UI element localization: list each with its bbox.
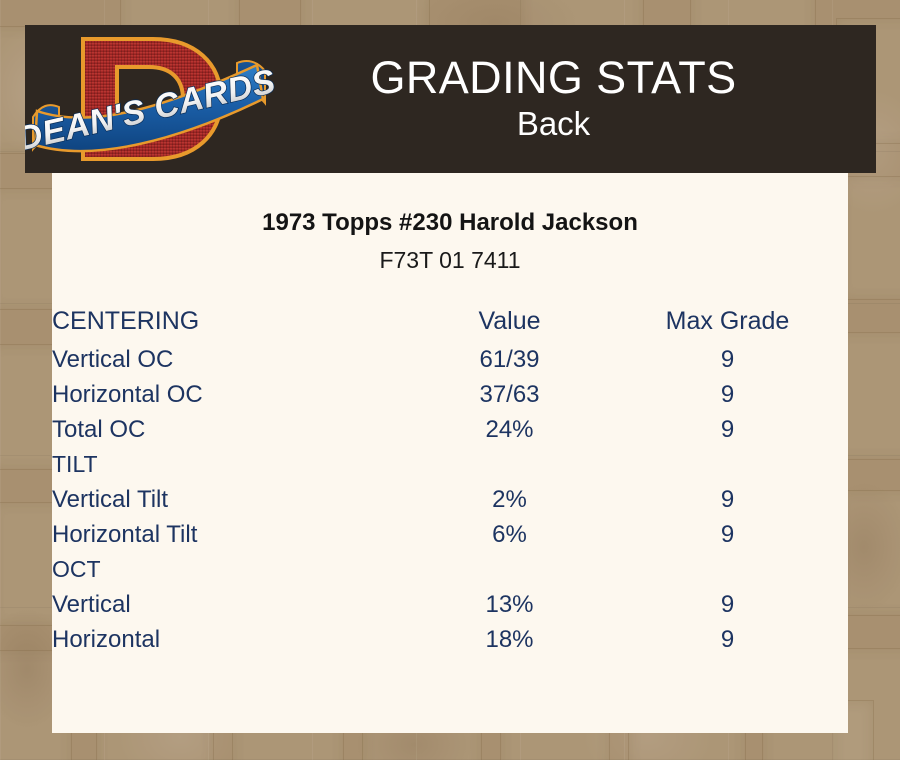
table-row: Horizontal18%9 (52, 622, 848, 657)
stat-max-grade: 9 (607, 622, 848, 657)
stat-label: Horizontal OC (52, 377, 412, 412)
stat-value: 13% (412, 587, 607, 622)
grading-stats-table: CENTERING Value Max Grade Vertical OC61/… (52, 300, 848, 657)
stat-value: 6% (412, 517, 607, 552)
section-header-label: TILT (52, 447, 412, 482)
content-panel: 1973 Topps #230 Harold Jackson F73T 01 7… (52, 173, 848, 733)
stat-max-grade: 9 (607, 377, 848, 412)
header-titles: GRADING STATS Back (275, 54, 876, 145)
background-card-image (840, 176, 900, 300)
stat-value: 2% (412, 482, 607, 517)
deans-cards-logo[interactable]: DEAN'S CARDS (25, 25, 275, 173)
section-header-spacer (607, 552, 848, 587)
page-title: GRADING STATS (275, 54, 832, 101)
table-row: Vertical OC61/399 (52, 342, 848, 377)
section-header-spacer (412, 447, 607, 482)
table-row: Total OC24%9 (52, 412, 848, 447)
card-title: 1973 Topps #230 Harold Jackson (52, 209, 848, 237)
section-header-spacer (607, 447, 848, 482)
column-header-value: Value (412, 300, 607, 342)
column-header-centering: CENTERING (52, 300, 412, 342)
stat-max-grade: 9 (607, 517, 848, 552)
stat-label: Horizontal (52, 622, 412, 657)
table-row: Vertical13%9 (52, 587, 848, 622)
stat-label: Vertical OC (52, 342, 412, 377)
card-code: F73T 01 7411 (52, 247, 848, 274)
table-body: Vertical OC61/399Horizontal OC37/639Tota… (52, 342, 848, 657)
section-header-label: OCT (52, 552, 412, 587)
table-row: Horizontal Tilt6%9 (52, 517, 848, 552)
section-header-row: TILT (52, 447, 848, 482)
stat-max-grade: 9 (607, 482, 848, 517)
section-header-spacer (412, 552, 607, 587)
header-bar: DEAN'S CARDS GRADING STATS Back (25, 25, 876, 173)
page-subtitle: Back (275, 103, 832, 144)
stat-label: Total OC (52, 412, 412, 447)
stat-value: 61/39 (412, 342, 607, 377)
stat-label: Horizontal Tilt (52, 517, 412, 552)
stat-max-grade: 9 (607, 587, 848, 622)
stat-label: Vertical (52, 587, 412, 622)
stat-max-grade: 9 (607, 412, 848, 447)
table-header-row: CENTERING Value Max Grade (52, 300, 848, 342)
section-header-row: OCT (52, 552, 848, 587)
stat-value: 18% (412, 622, 607, 657)
stat-value: 37/63 (412, 377, 607, 412)
table-row: Vertical Tilt2%9 (52, 482, 848, 517)
stat-max-grade: 9 (607, 342, 848, 377)
table-row: Horizontal OC37/639 (52, 377, 848, 412)
stat-value: 24% (412, 412, 607, 447)
stat-label: Vertical Tilt (52, 482, 412, 517)
column-header-max-grade: Max Grade (607, 300, 848, 342)
